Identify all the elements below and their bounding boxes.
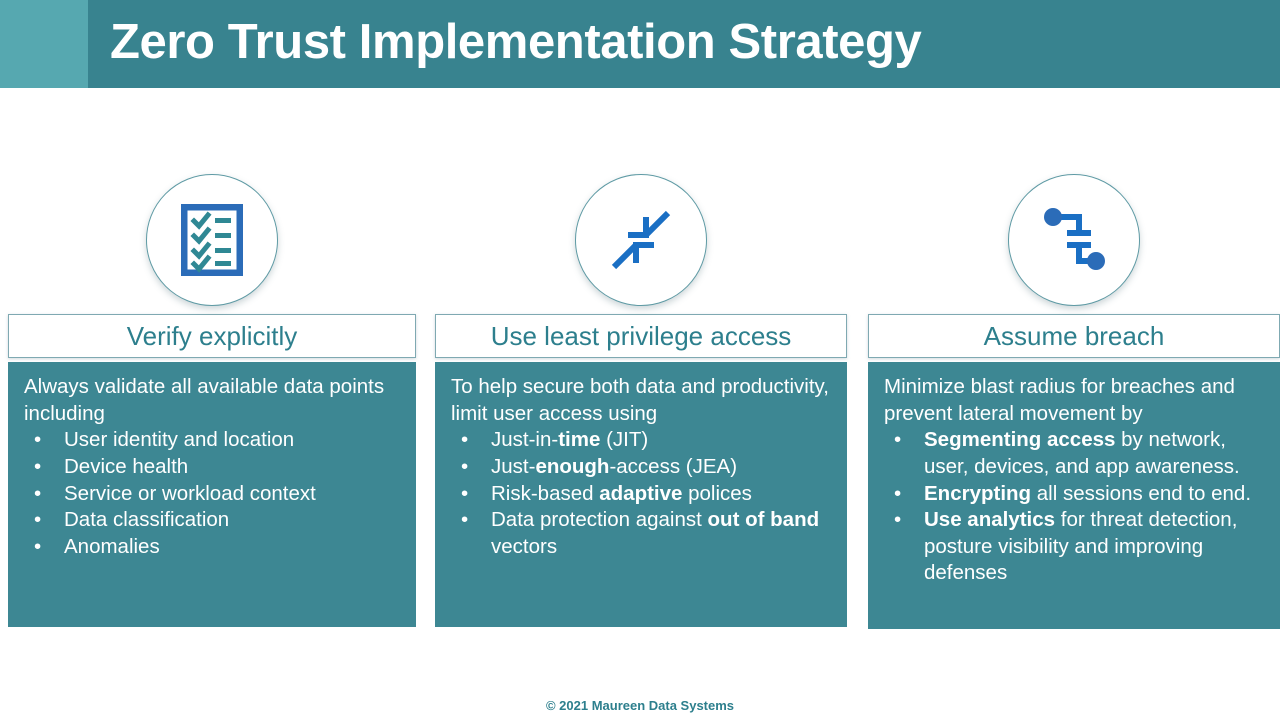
list-item-text: Data protection against bbox=[491, 508, 708, 531]
icon-circle bbox=[1008, 174, 1140, 306]
list-item-emphasis: time bbox=[558, 428, 600, 451]
icon-wrapper bbox=[435, 170, 847, 310]
list-item: Just-enough-access (JEA) bbox=[449, 454, 833, 481]
list-item-text: Service or workload context bbox=[64, 482, 316, 505]
list-item-text: User identity and location bbox=[64, 428, 294, 451]
pillar-column-least-privilege: Use least privilege access To help secur… bbox=[435, 170, 847, 627]
broken-connection-icon bbox=[1039, 205, 1109, 275]
checklist-icon bbox=[181, 204, 243, 276]
pillar-body-panel: To help secure both data and productivit… bbox=[435, 362, 847, 627]
pillar-heading-box: Assume breach bbox=[868, 314, 1280, 358]
list-item: Use analytics for threat detection, post… bbox=[882, 507, 1266, 587]
page-title: Zero Trust Implementation Strategy bbox=[110, 0, 921, 88]
pillar-column-assume-breach: Assume breach Minimize blast radius for … bbox=[868, 170, 1280, 629]
list-item: Segmenting access by network, user, devi… bbox=[882, 427, 1266, 480]
list-item-text: all sessions end to end. bbox=[1031, 482, 1251, 505]
icon-wrapper bbox=[868, 170, 1280, 310]
list-item-text: Data classification bbox=[64, 508, 229, 531]
list-item: Just-in-time (JIT) bbox=[449, 427, 833, 454]
pillar-intro-text: Minimize blast radius for breaches and p… bbox=[884, 374, 1266, 427]
compress-arrows-icon bbox=[606, 205, 676, 275]
list-item-emphasis: out of band bbox=[708, 508, 820, 531]
list-item-text: Just-in- bbox=[491, 428, 558, 451]
list-item-text: -access (JEA) bbox=[609, 455, 737, 478]
list-item-text: Device health bbox=[64, 455, 188, 478]
list-item: Anomalies bbox=[22, 534, 402, 561]
list-item: Encrypting all sessions end to end. bbox=[882, 481, 1266, 508]
pillar-bullet-list: User identity and locationDevice healthS… bbox=[22, 427, 402, 560]
header-accent-block bbox=[0, 0, 88, 88]
list-item-emphasis: Use analytics bbox=[924, 508, 1055, 531]
list-item-emphasis: Encrypting bbox=[924, 482, 1031, 505]
pillar-heading-text: Verify explicitly bbox=[127, 323, 298, 349]
pillar-intro-text: Always validate all available data point… bbox=[24, 374, 402, 427]
list-item-text: polices bbox=[682, 482, 752, 505]
list-item: Risk-based adaptive polices bbox=[449, 481, 833, 508]
page-header: Zero Trust Implementation Strategy bbox=[0, 0, 1280, 88]
footer-copyright: © 2021 Maureen Data Systems bbox=[0, 698, 1280, 713]
pillar-bullet-list: Just-in-time (JIT)Just-enough-access (JE… bbox=[449, 427, 833, 560]
pillar-body-panel: Minimize blast radius for breaches and p… bbox=[868, 362, 1280, 629]
icon-circle bbox=[146, 174, 278, 306]
icon-circle bbox=[575, 174, 707, 306]
pillar-heading-box: Verify explicitly bbox=[8, 314, 416, 358]
list-item-text: Just- bbox=[491, 455, 535, 478]
pillar-heading-box: Use least privilege access bbox=[435, 314, 847, 358]
pillar-intro-text: To help secure both data and productivit… bbox=[451, 374, 833, 427]
list-item-emphasis: enough bbox=[535, 455, 609, 478]
list-item-text: Risk-based bbox=[491, 482, 599, 505]
list-item-text: (JIT) bbox=[600, 428, 648, 451]
list-item-text: Anomalies bbox=[64, 535, 160, 558]
pillar-body-panel: Always validate all available data point… bbox=[8, 362, 416, 627]
list-item-emphasis: Segmenting access bbox=[924, 428, 1115, 451]
pillar-column-verify-explicitly: Verify explicitly Always validate all av… bbox=[8, 170, 416, 627]
list-item: Device health bbox=[22, 454, 402, 481]
list-item-text: vectors bbox=[491, 535, 557, 558]
pillar-bullet-list: Segmenting access by network, user, devi… bbox=[882, 427, 1266, 587]
pillar-heading-text: Assume breach bbox=[984, 323, 1165, 349]
pillar-heading-text: Use least privilege access bbox=[491, 323, 792, 349]
list-item-emphasis: adaptive bbox=[599, 482, 682, 505]
list-item: User identity and location bbox=[22, 427, 402, 454]
list-item: Service or workload context bbox=[22, 481, 402, 508]
icon-wrapper bbox=[8, 170, 416, 310]
list-item: Data protection against out of band vect… bbox=[449, 507, 833, 560]
list-item: Data classification bbox=[22, 507, 402, 534]
